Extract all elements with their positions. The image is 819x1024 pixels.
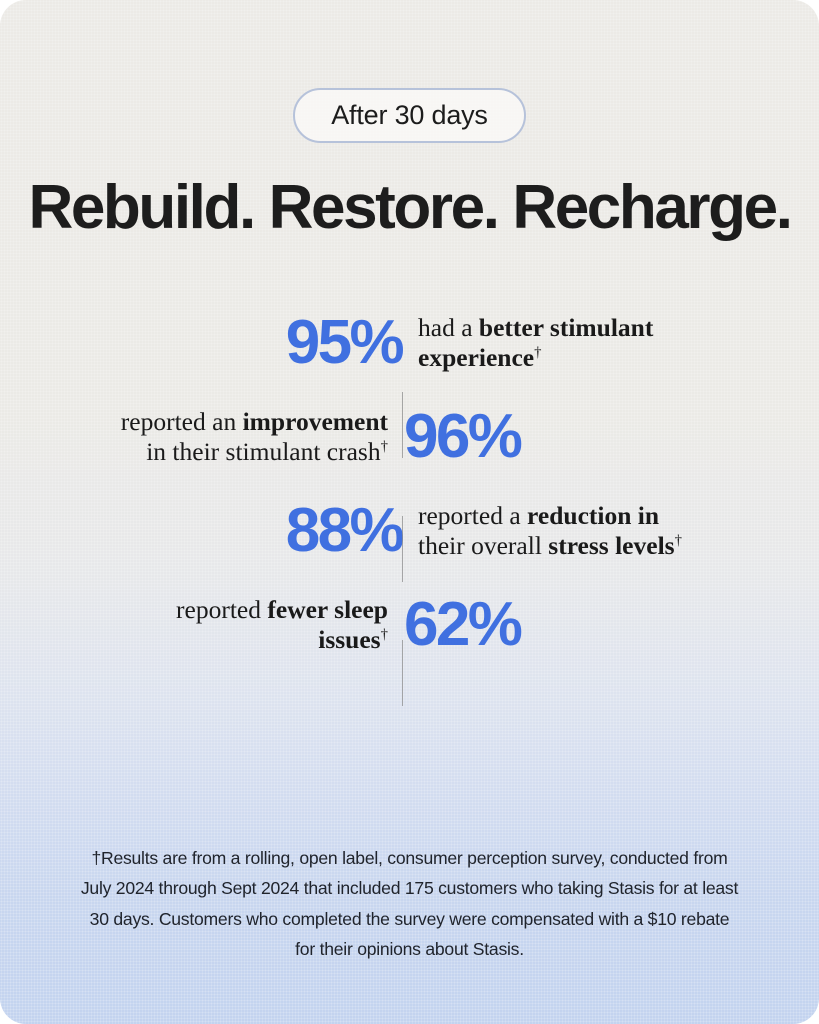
- stat-right-slot: reported a reduction in their overall st…: [402, 501, 819, 561]
- stat-label-plain: reported a: [418, 501, 527, 530]
- stat-row: 88% reported a reduction in their overal…: [0, 484, 819, 578]
- footnote-disclaimer: †Results are from a rolling, open label,…: [0, 843, 819, 964]
- stat-label-emphasis: reduction in: [527, 501, 659, 530]
- stat-left-slot: reported fewer sleep issues†: [0, 595, 402, 655]
- stat-percent: 95%: [286, 312, 402, 374]
- stat-right-slot: 62%: [402, 594, 819, 656]
- stat-row: 95% had a better stimulant experience†: [0, 296, 819, 390]
- stat-label: reported fewer sleep issues†: [102, 595, 402, 655]
- stats-list: 95% had a better stimulant experience† r…: [0, 296, 819, 672]
- results-card: After 30 days Rebuild. Restore. Recharge…: [0, 0, 819, 1024]
- stat-percent: 96%: [402, 406, 520, 468]
- page-title: Rebuild. Restore. Recharge.: [0, 175, 819, 240]
- stat-left-slot: 88%: [0, 500, 402, 562]
- stat-right-slot: 96%: [402, 406, 819, 468]
- dagger-marker: †: [675, 533, 682, 549]
- stat-left-slot: reported an improvement in their stimula…: [0, 407, 402, 467]
- stat-label-plain-2: their overall: [418, 531, 548, 560]
- badge-container: After 30 days: [0, 0, 819, 143]
- connector-line: [402, 392, 403, 458]
- stat-label: reported a reduction in their overall st…: [402, 501, 702, 561]
- dagger-marker: †: [381, 439, 388, 455]
- stat-percent: 88%: [286, 500, 402, 562]
- stat-percent: 62%: [402, 594, 520, 656]
- stat-label-plain: reported: [176, 595, 267, 624]
- stat-row: reported fewer sleep issues† 62%: [0, 578, 819, 672]
- stat-label-plain-2: in their stimulant crash: [146, 437, 380, 466]
- connector-line: [402, 516, 403, 582]
- stat-row: reported an improvement in their stimula…: [0, 390, 819, 484]
- dagger-marker: †: [381, 627, 388, 643]
- stat-label: reported an improvement in their stimula…: [102, 407, 402, 467]
- stat-label-emphasis: fewer sleep issues: [267, 595, 388, 654]
- stat-label-emphasis-2: stress levels: [548, 531, 674, 560]
- stat-label-plain: had a: [418, 313, 479, 342]
- connector-line: [402, 640, 403, 706]
- after-30-days-badge: After 30 days: [293, 88, 526, 143]
- stat-label-plain: reported an: [121, 407, 243, 436]
- stat-label: had a better stimulant experience†: [402, 313, 702, 373]
- stat-left-slot: 95%: [0, 312, 402, 374]
- stat-label-emphasis: improvement: [243, 407, 388, 436]
- dagger-marker: †: [534, 345, 541, 361]
- stat-right-slot: had a better stimulant experience†: [402, 313, 819, 373]
